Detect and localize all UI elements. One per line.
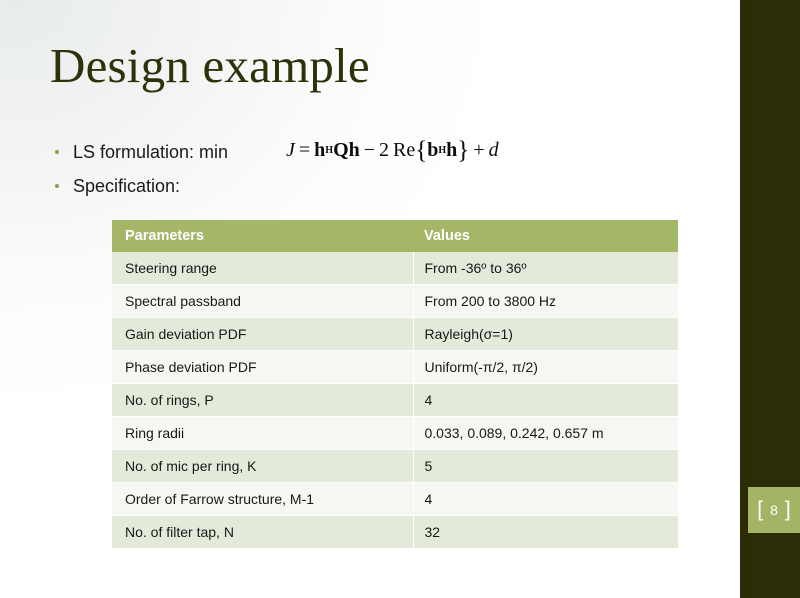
bullet-item-ls-formulation: LS formulation: min xyxy=(55,142,228,163)
cell-parameter: Order of Farrow structure, M-1 xyxy=(112,483,413,516)
formula-brace-close: } xyxy=(457,141,469,161)
bullet-dot-icon xyxy=(55,184,59,188)
cell-parameter: No. of filter tap, N xyxy=(112,516,413,549)
cell-value: 32 xyxy=(413,516,678,549)
formula-h2: h xyxy=(349,139,360,162)
bracket-right-icon: ] xyxy=(785,499,791,520)
page-title: Design example xyxy=(50,37,370,94)
table-row: Phase deviation PDF Uniform(-π/2, π/2) xyxy=(112,351,678,384)
table-row: Gain deviation PDF Rayleigh(σ=1) xyxy=(112,318,678,351)
cell-parameter: Phase deviation PDF xyxy=(112,351,413,384)
formula-two: 2 xyxy=(379,139,389,162)
cell-value: 5 xyxy=(413,450,678,483)
table-row: Order of Farrow structure, M-1 4 xyxy=(112,483,678,516)
cell-parameter: Ring radii xyxy=(112,417,413,450)
specification-table: Parameters Values Steering range From -3… xyxy=(112,220,678,548)
formula-d: d xyxy=(489,139,499,162)
bullet-dot-icon xyxy=(55,150,59,154)
table-row: No. of rings, P 4 xyxy=(112,384,678,417)
formula-b: b xyxy=(427,139,438,162)
table-header-row: Parameters Values xyxy=(112,220,678,252)
formula-sup-b: H xyxy=(438,145,446,156)
table-row: No. of filter tap, N 32 xyxy=(112,516,678,549)
bullet-item-specification: Specification: xyxy=(55,176,180,197)
cell-parameter: No. of mic per ring, K xyxy=(112,450,413,483)
table-row: Spectral passband From 200 to 3800 Hz xyxy=(112,285,678,318)
formula-sup-h1: H xyxy=(325,145,333,156)
formula-re: Re xyxy=(393,139,415,162)
cell-value: 0.033, 0.089, 0.242, 0.657 m xyxy=(413,417,678,450)
formula-equals: = xyxy=(299,139,310,162)
slide-number-badge: [ 8 ] xyxy=(748,487,800,533)
table-row: Ring radii 0.033, 0.089, 0.242, 0.657 m xyxy=(112,417,678,450)
formula-q: Q xyxy=(333,139,349,162)
slide-canvas: [ 8 ] Design example LS formulation: min… xyxy=(0,0,800,598)
bullet-label: LS formulation: min xyxy=(73,142,228,163)
slide-number: 8 xyxy=(770,502,778,518)
ls-cost-formula: J = hHQh − 2 Re { bHh } + d xyxy=(286,139,499,162)
column-header-values: Values xyxy=(413,220,678,252)
formula-h3: h xyxy=(446,139,457,162)
formula-h1: h xyxy=(314,139,325,162)
bracket-left-icon: [ xyxy=(757,499,763,520)
cell-parameter: Steering range xyxy=(112,252,413,285)
cell-parameter: Gain deviation PDF xyxy=(112,318,413,351)
formula-minus: − xyxy=(364,139,375,162)
table-row: Steering range From -36º to 36º xyxy=(112,252,678,285)
cell-value: Rayleigh(σ=1) xyxy=(413,318,678,351)
formula-brace-open: { xyxy=(415,141,427,161)
cell-value: From -36º to 36º xyxy=(413,252,678,285)
cell-parameter: No. of rings, P xyxy=(112,384,413,417)
table-row: No. of mic per ring, K 5 xyxy=(112,450,678,483)
cell-value: 4 xyxy=(413,483,678,516)
cell-value: From 200 to 3800 Hz xyxy=(413,285,678,318)
column-header-parameters: Parameters xyxy=(112,220,413,252)
bullet-label: Specification: xyxy=(73,176,180,197)
cell-parameter: Spectral passband xyxy=(112,285,413,318)
formula-plus: + xyxy=(473,139,484,162)
cell-value: Uniform(-π/2, π/2) xyxy=(413,351,678,384)
cell-value: 4 xyxy=(413,384,678,417)
formula-j: J xyxy=(286,139,295,162)
